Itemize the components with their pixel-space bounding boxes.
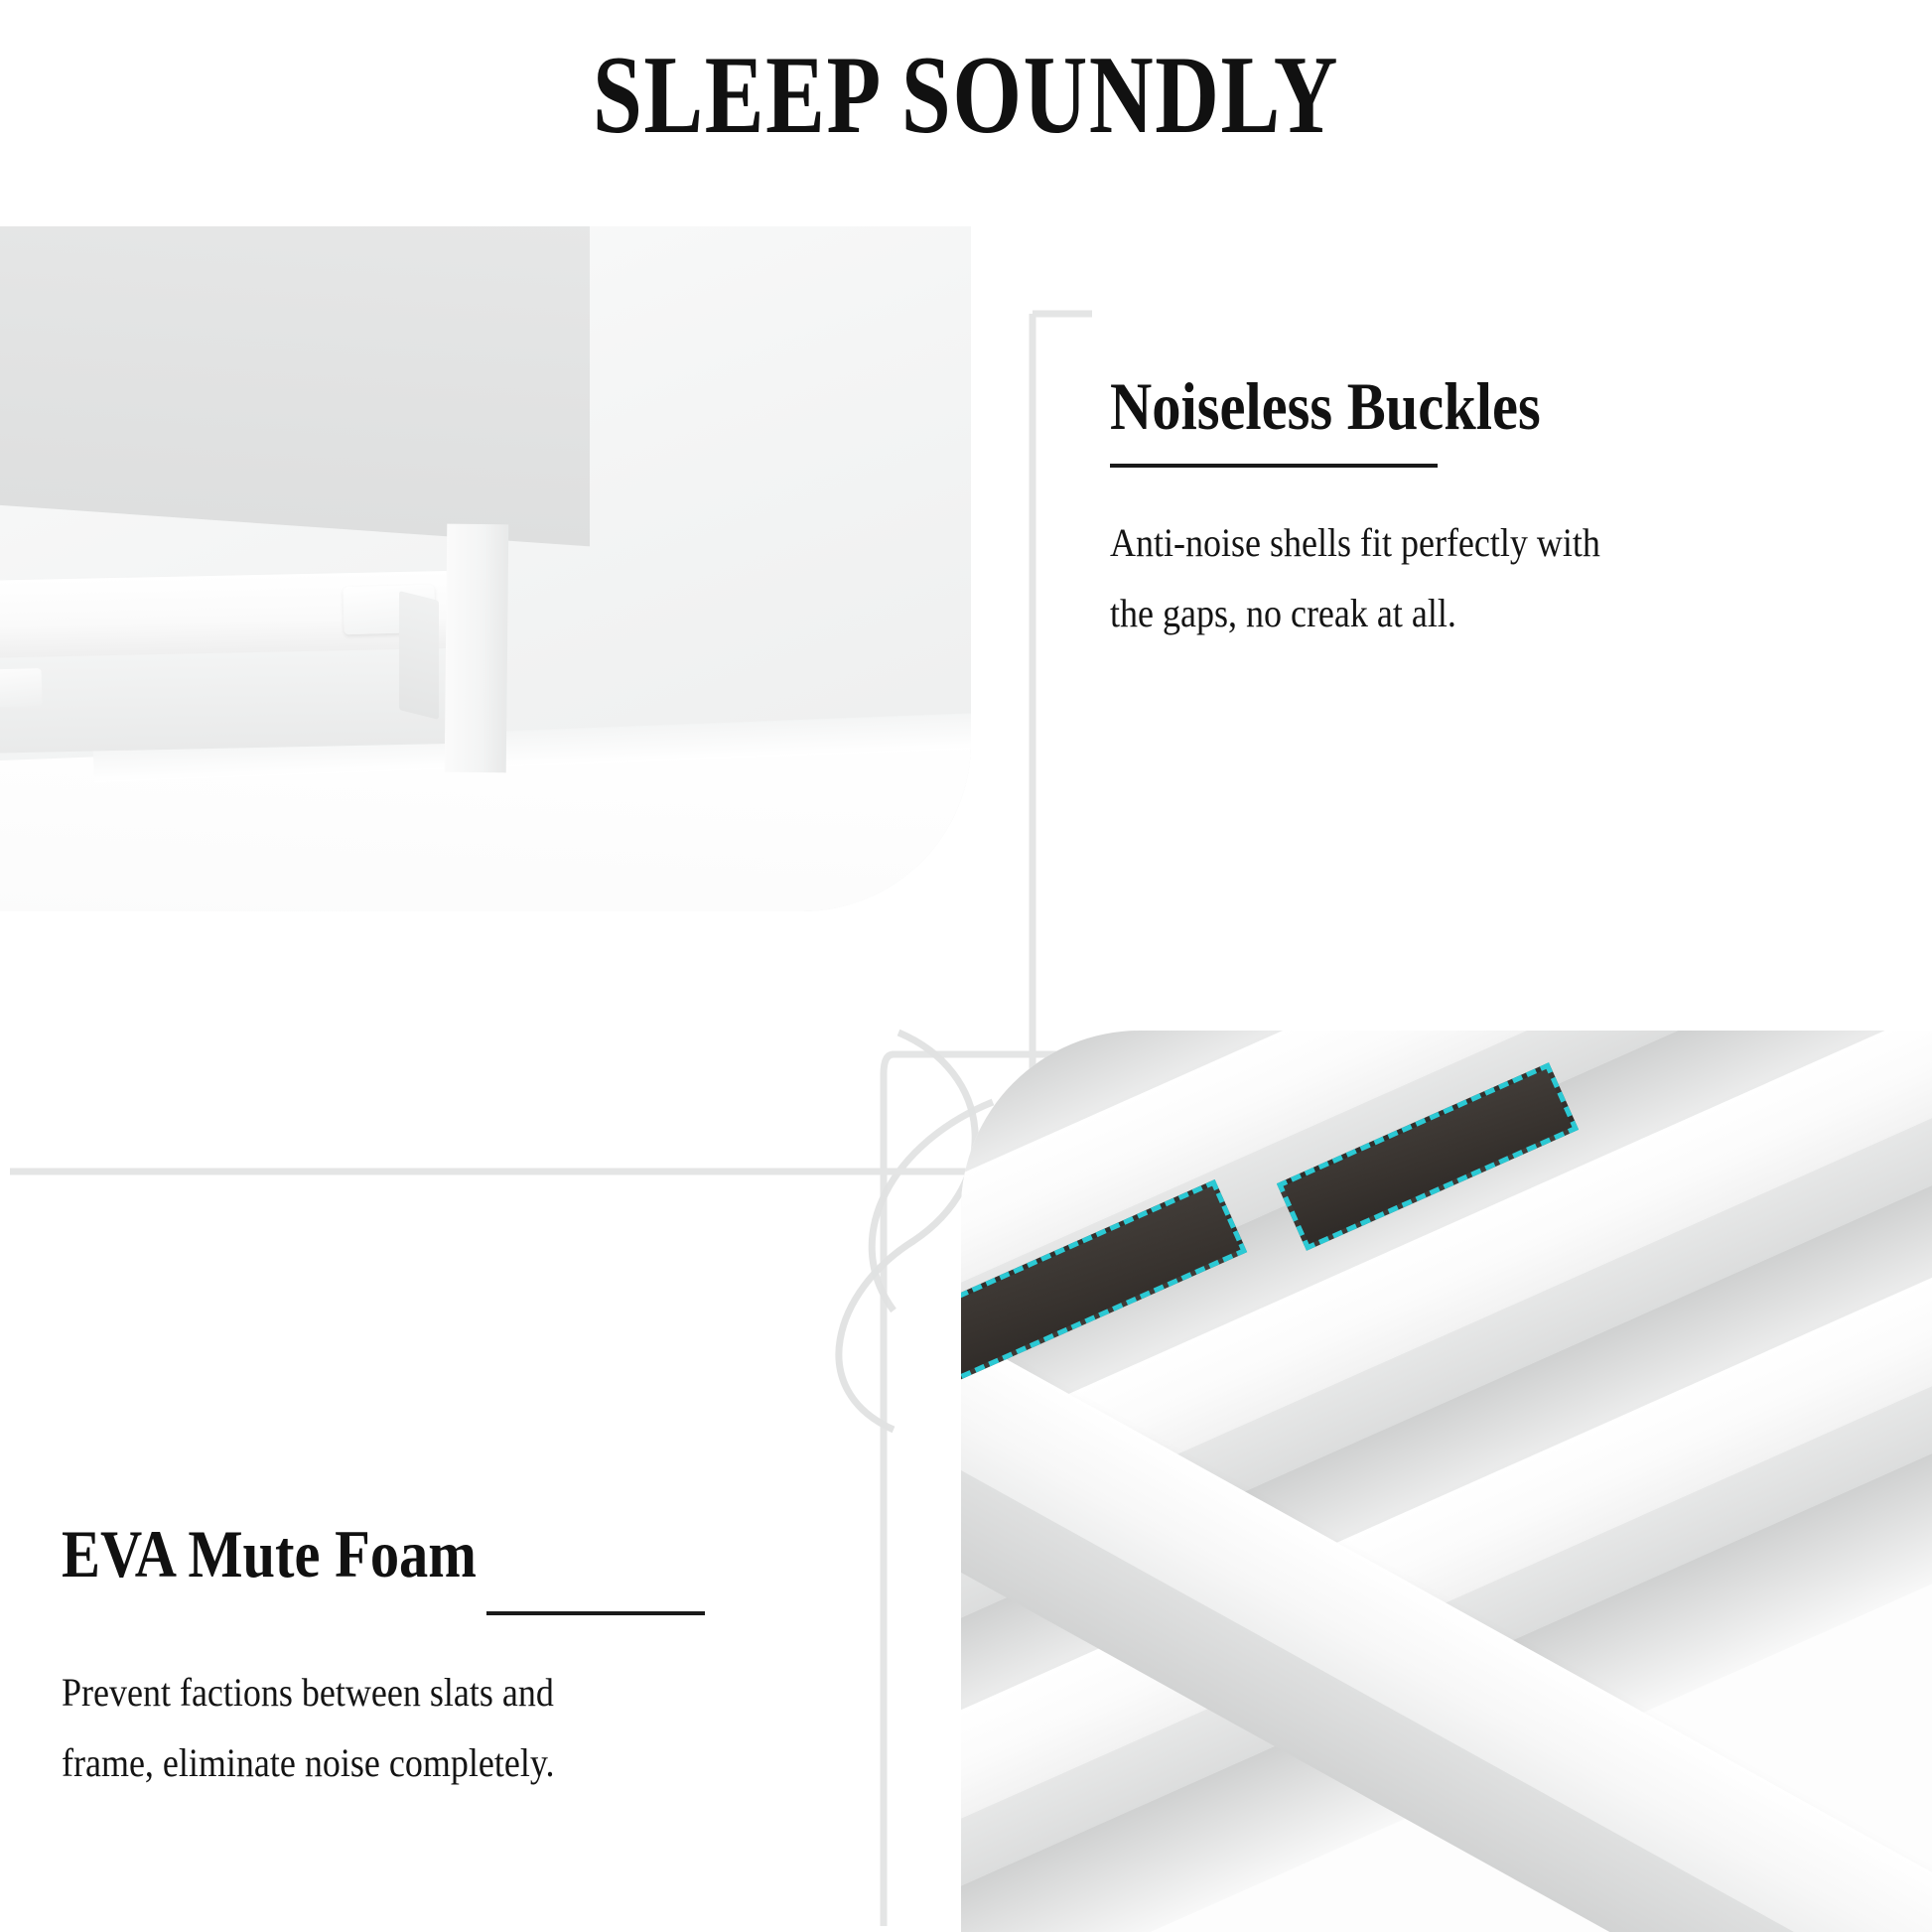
buckle-post — [445, 524, 509, 773]
buckle-tab-side — [399, 591, 439, 720]
page-title: SLEEP SOUNDLY — [194, 38, 1739, 155]
headboard-panel — [0, 226, 590, 546]
buckle-tab-left — [0, 668, 42, 708]
feature-body-line2: frame, eliminate noise completely. — [62, 1731, 741, 1796]
feature-body-line1: Prevent factions between slats and — [62, 1661, 741, 1725]
infographic-canvas: SLEEP SOUNDLY — [0, 0, 1932, 1932]
heading-rule — [486, 1611, 705, 1615]
feature-body-line2: the gaps, no creak at all. — [1110, 582, 1600, 646]
heading-rule — [1110, 464, 1438, 468]
feature-noiseless-buckles: Noiseless Buckles Anti-noise shells fit … — [1110, 369, 1655, 645]
feature-heading: Noiseless Buckles — [1110, 369, 1579, 444]
feature-eva-mute-foam: EVA Mute Foam Prevent factions between s… — [62, 1517, 816, 1795]
buckle-photo — [0, 226, 971, 911]
foam-photo — [961, 1031, 1932, 1932]
feature-heading: EVA Mute Foam — [62, 1517, 711, 1591]
feature-body-line1: Anti-noise shells fit perfectly with — [1110, 511, 1600, 576]
